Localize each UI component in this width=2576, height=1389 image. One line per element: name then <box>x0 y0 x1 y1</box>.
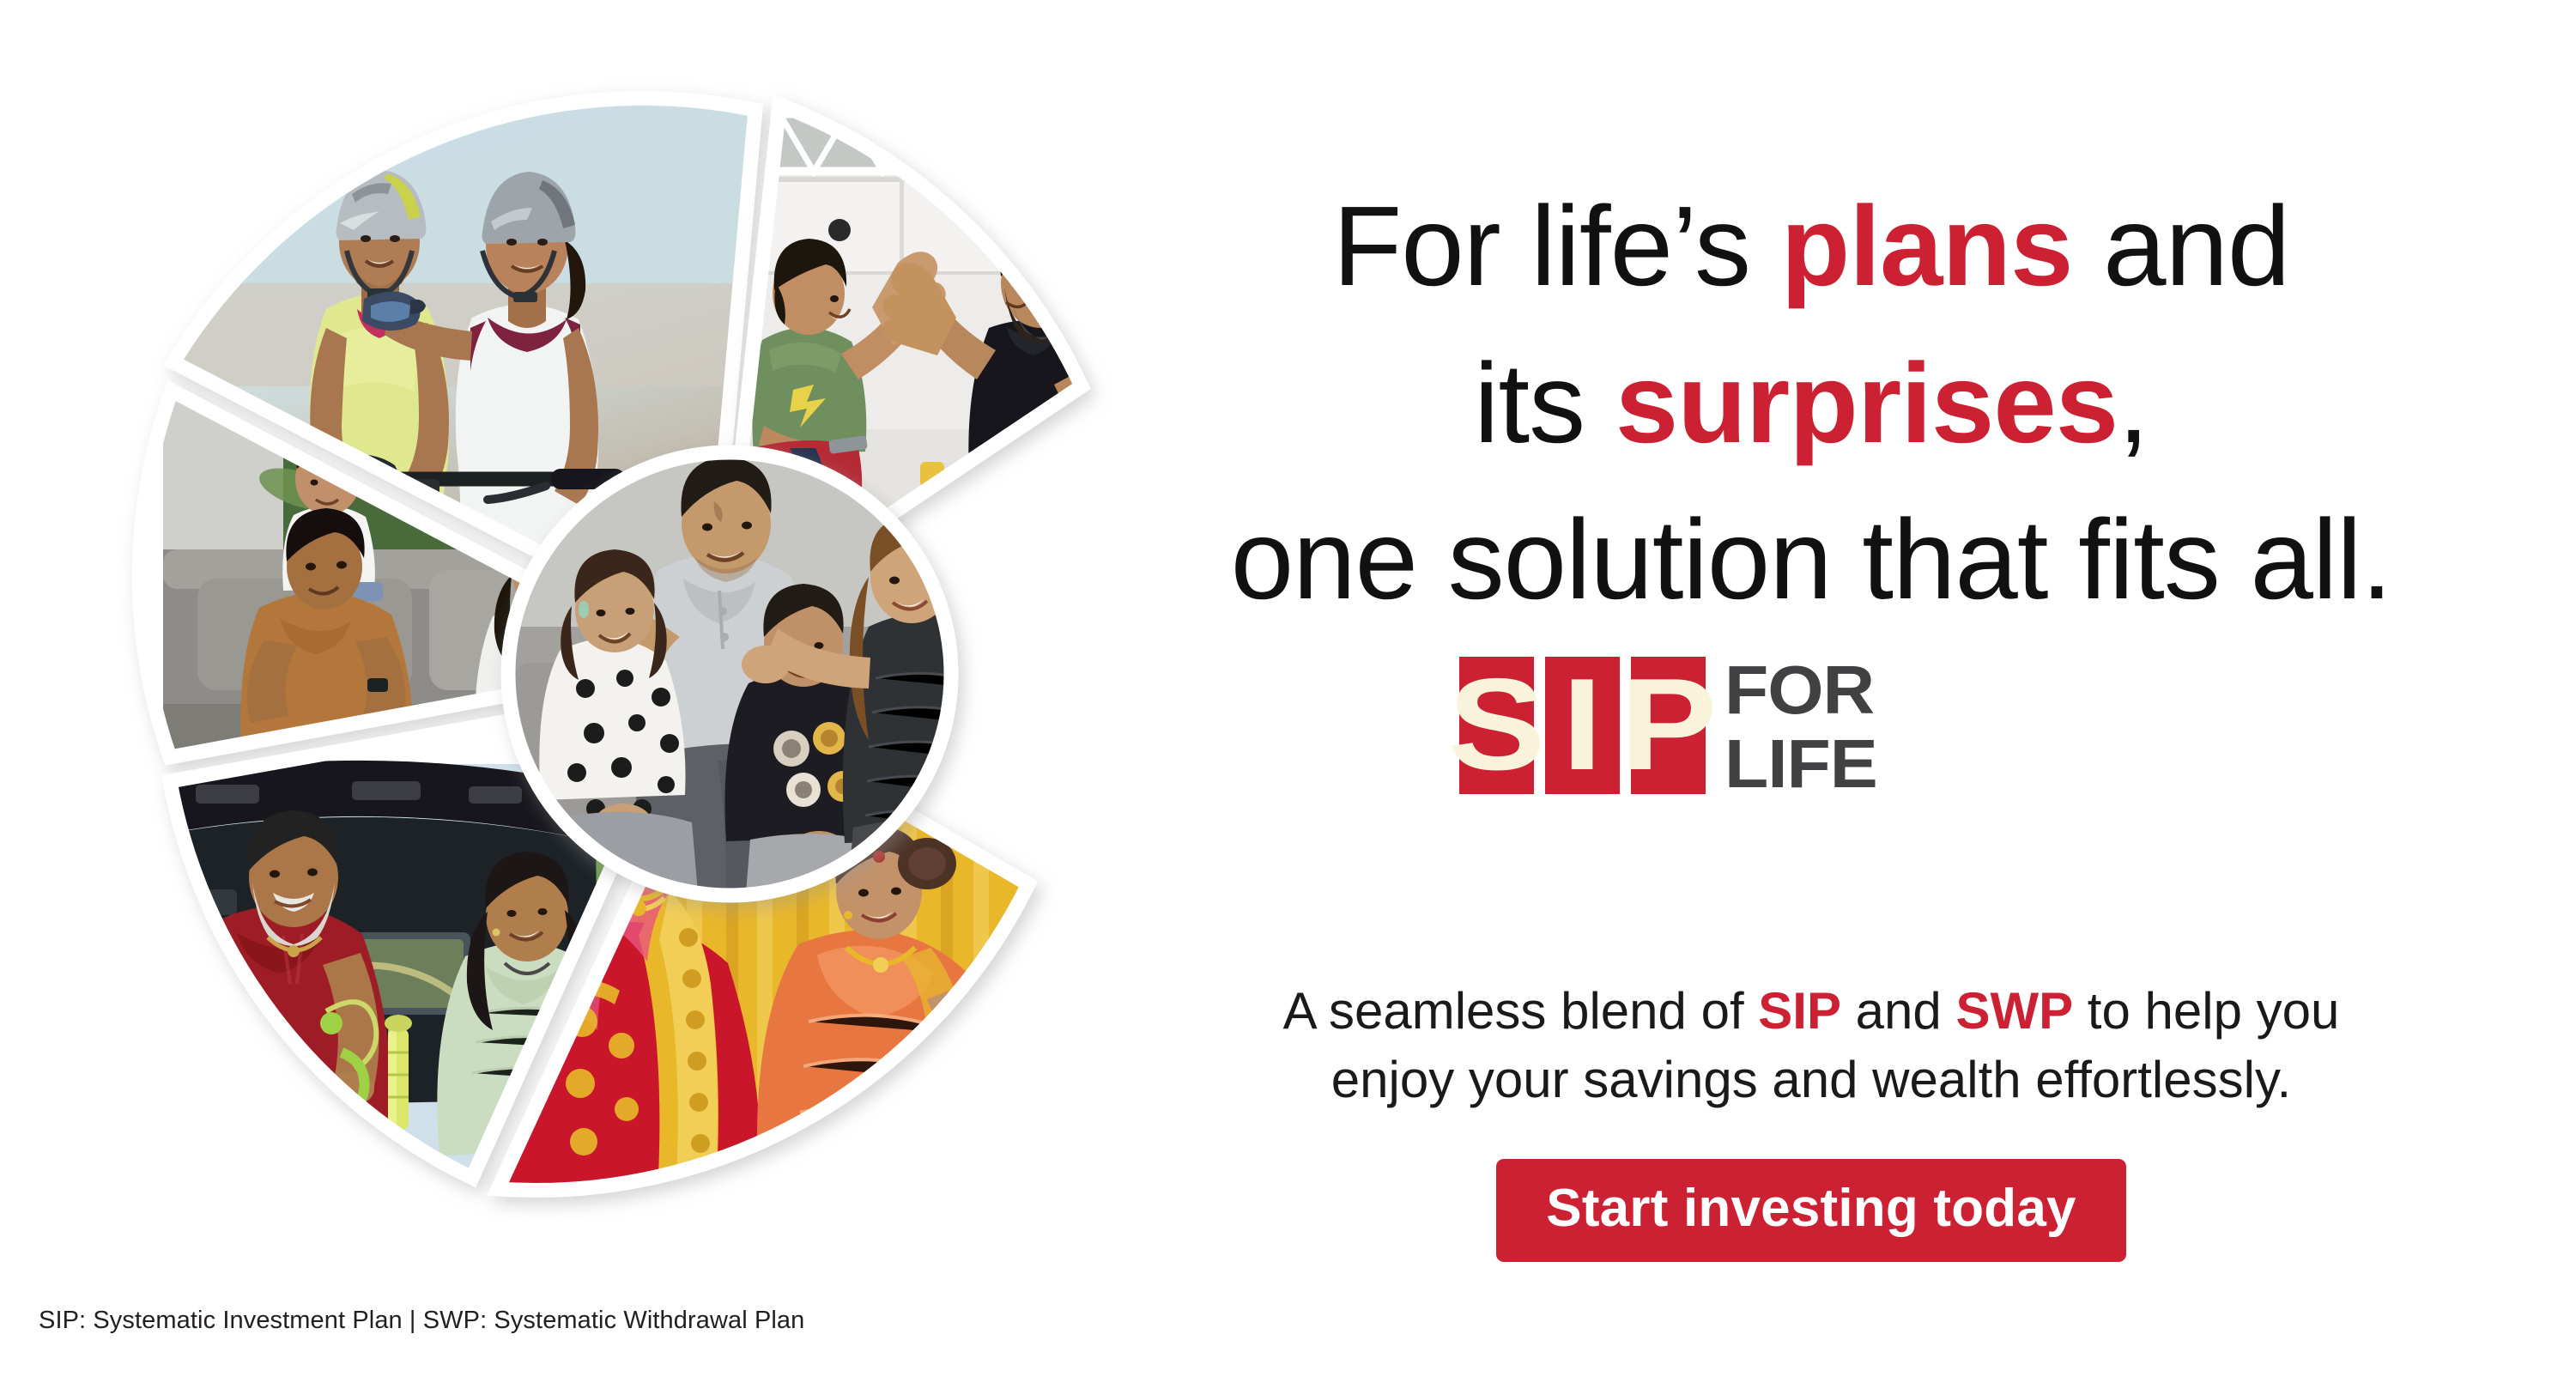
sip-letter-s: S <box>1448 670 1546 780</box>
logo-word-life: LIFE <box>1724 732 1877 796</box>
headline-line1-post: and <box>2072 183 2289 309</box>
start-investing-button[interactable]: Start investing today <box>1496 1159 2125 1262</box>
campaign-banner: For life’s plans and its surprises, one … <box>0 0 2576 1389</box>
sip-letter-i: I <box>1562 670 1603 780</box>
headline-line1-pre: For life’s <box>1333 183 1781 309</box>
disclaimer-footnote: SIP: Systematic Investment Plan | SWP: S… <box>39 1307 804 1335</box>
subhead-highlight-swp: SWP <box>1955 982 2073 1040</box>
headline-line-3: one solution that fits all. <box>1142 482 2481 638</box>
sip-letter-blocks: S I P <box>1459 657 1706 794</box>
subheading: A seamless blend of SIP and SWP to help … <box>1142 977 2481 1114</box>
headline-highlight-surprises: surprises <box>1615 340 2118 466</box>
subhead-line1-pre: A seamless blend of <box>1283 982 1759 1040</box>
subhead-line1-post: to help you <box>2073 982 2339 1040</box>
sip-block-p: P <box>1631 657 1706 794</box>
subhead-line-2: enjoy your savings and wealth effortless… <box>1142 1046 2481 1114</box>
sip-letter-p: P <box>1620 670 1718 780</box>
headline-highlight-plans: plans <box>1781 183 2073 309</box>
sip-block-i: I <box>1545 657 1620 794</box>
page-title: For life’s plans and its surprises, one … <box>1142 168 2481 637</box>
headline-line2-post: , <box>2118 340 2149 466</box>
headline-line2-pre: its <box>1474 340 1615 466</box>
content-column: For life’s plans and its surprises, one … <box>1142 0 2576 1389</box>
for-life-wordmark: FOR LIFE <box>1724 657 1870 798</box>
subhead-line-1: A seamless blend of SIP and SWP to help … <box>1142 977 2481 1046</box>
subhead-line1-mid: and <box>1841 982 1955 1040</box>
sip-block-s: S <box>1459 657 1534 794</box>
headline-line-1: For life’s plans and <box>1142 168 2481 325</box>
sip-for-life-logo: S I P FOR LIFE <box>1459 657 1870 794</box>
subhead-highlight-sip: SIP <box>1758 982 1841 1040</box>
cta-container: Start investing today <box>1142 1159 2481 1262</box>
photo-collage <box>69 26 1082 1262</box>
headline-line-2: its surprises, <box>1142 325 2481 482</box>
logo-word-for: FOR <box>1724 658 1877 722</box>
